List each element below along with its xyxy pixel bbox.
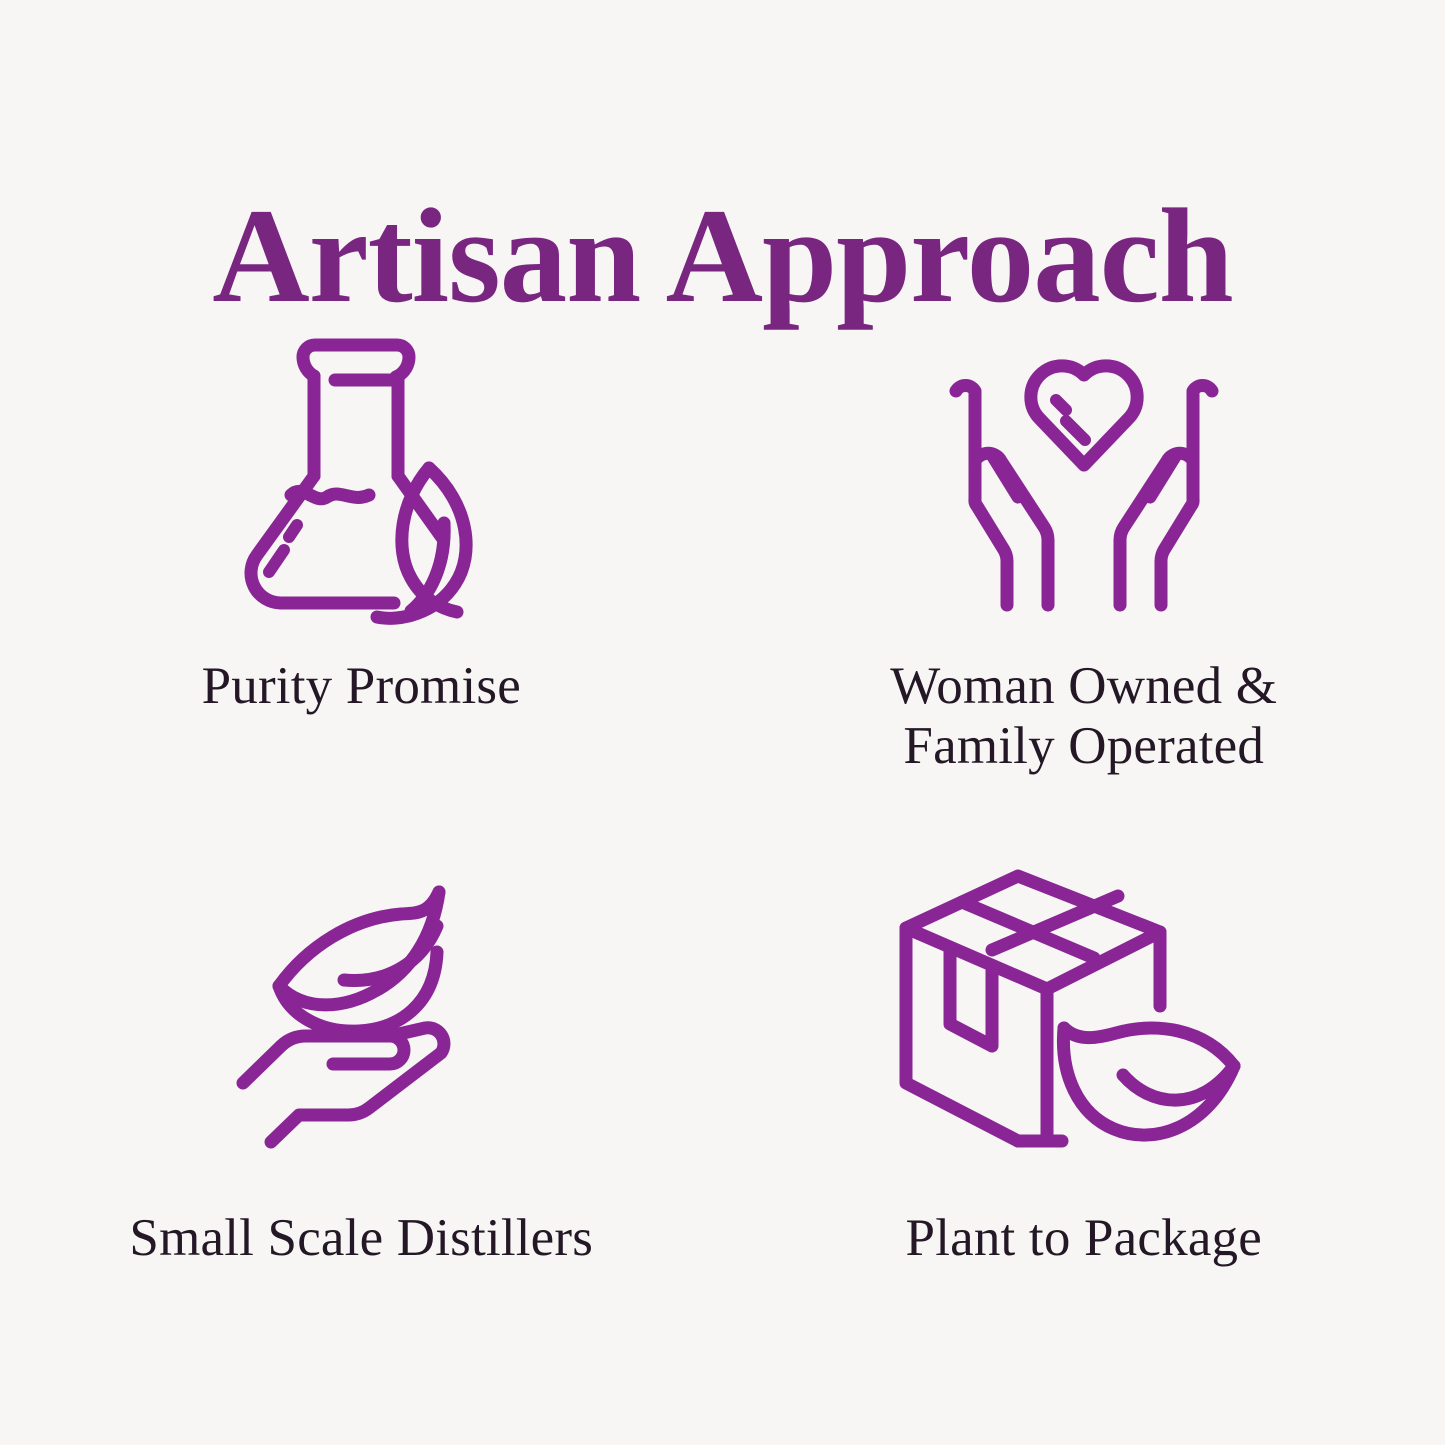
feature-small-scale-distillers: Small Scale Distillers	[0, 860, 723, 1390]
feature-label: Woman Owned & Family Operated	[890, 656, 1277, 777]
feature-label: Small Scale Distillers	[129, 1208, 593, 1268]
feature-label: Plant to Package	[906, 1208, 1262, 1268]
box-leaf-icon	[723, 860, 1445, 1150]
feature-woman-owned-family-operated: Woman Owned & Family Operated	[723, 330, 1445, 860]
hand-holding-leaf-icon	[0, 860, 723, 1150]
feature-grid: Purity Promise	[0, 330, 1445, 1390]
feature-label: Purity Promise	[202, 656, 521, 716]
feature-purity-promise: Purity Promise	[0, 330, 723, 860]
page-title: Artisan Approach	[0, 186, 1445, 328]
feature-plant-to-package: Plant to Package	[723, 860, 1445, 1390]
hands-holding-heart-icon	[723, 330, 1445, 630]
flask-leaf-icon	[0, 330, 723, 630]
artisan-approach-infographic: Artisan Approach	[0, 0, 1445, 1445]
